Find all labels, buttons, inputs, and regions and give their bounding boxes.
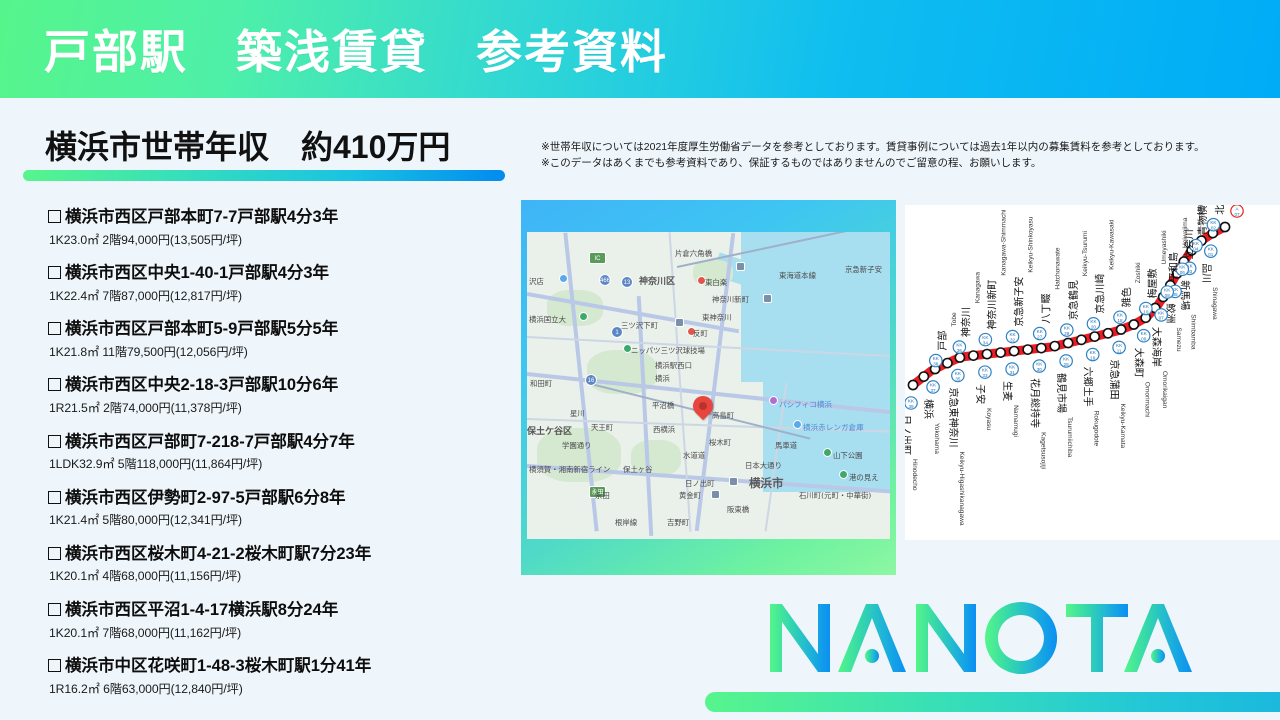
route-station-name-ja: 京急東神奈川 xyxy=(947,388,960,448)
route-station-code-prefix: KK xyxy=(1117,313,1124,318)
map-location-marker[interactable] xyxy=(693,396,713,424)
route-station-dot[interactable] xyxy=(1050,342,1059,351)
map-label: 日本大通り xyxy=(745,460,782,471)
route-station-code-number: 11 xyxy=(1117,348,1122,353)
route-station-code-number: 07 xyxy=(1159,316,1165,321)
route-station-code-number: 32 xyxy=(1010,337,1016,342)
route-map-svg: A07泉岳寺SengakujiKK01品川ShinagawaKK02北品川Kit… xyxy=(905,205,1280,540)
map-water-bay xyxy=(741,232,890,382)
route-station-name-ja: 新馬場 xyxy=(1179,280,1192,310)
map-label: 横浜駅西口 xyxy=(655,360,692,371)
map-label: 天王町 xyxy=(591,422,613,433)
listing-detail: 1K22.4㎡ 7階87,000円(12,817円/坪) xyxy=(49,286,508,304)
route-station-code-prefix: KK xyxy=(1210,220,1217,225)
route-station-name-ja: 八丁畷 xyxy=(1041,294,1053,324)
route-station-code-number: 37 xyxy=(931,388,937,393)
listing-address-text: 横浜市西区戸部町7-218-7戸部駅4分7年 xyxy=(65,433,355,451)
listing-address-text: 横浜市西区伊勢町2-97-5戸部駅6分8年 xyxy=(65,489,346,507)
listing-item[interactable]: 横浜市西区戸部町7-218-7戸部駅4分7年1LDK32.9㎡ 5階118,00… xyxy=(48,432,508,473)
disclaimer-note: ※世帯年収については2021年度厚生労働省データを参考としております。賃貸事例に… xyxy=(541,139,1251,172)
listing-address-text: 横浜市中区花咲町1-48-3桜木町駅1分41年 xyxy=(65,657,371,675)
map-label: 横浜市 xyxy=(749,475,784,491)
route-station-code-number: 30 xyxy=(1037,367,1043,372)
listing-checkbox-icon[interactable] xyxy=(48,266,61,279)
route-station-code-prefix: KK xyxy=(1208,247,1215,252)
map-label: 横浜赤レンガ倉庫 xyxy=(803,422,864,433)
listing-address: 横浜市西区中央1-40-1戸部駅4分3年 xyxy=(48,263,508,284)
map-label: 吉野町 xyxy=(667,517,689,528)
route-station-name-ja: 梅屋敷 xyxy=(1146,269,1159,299)
route-station-name-ja: 神奈川 xyxy=(959,307,972,337)
listing-item[interactable]: 横浜市西区戸部本町7-7戸部駅4分3年1K23.0㎡ 2階94,000円(13,… xyxy=(48,207,508,248)
route-station-dot[interactable] xyxy=(919,372,928,381)
route-station-code-prefix: KK xyxy=(908,398,915,403)
map-marker-hole xyxy=(699,402,707,410)
route-station-dot[interactable] xyxy=(996,348,1005,357)
listing-item[interactable]: 横浜市西区伊勢町2-97-5戸部駅6分8年1K21.4㎡ 5階80,000円(1… xyxy=(48,488,508,529)
route-station-code-number: 35 xyxy=(955,376,961,381)
map-label: 永田 xyxy=(595,490,610,501)
listing-address-text: 横浜市西区中央1-40-1戸部駅4分3年 xyxy=(65,264,329,282)
route-station-code-number: 19 xyxy=(1090,355,1096,360)
map-route-shield-466: 466 xyxy=(599,274,611,286)
route-station-name-en: Yokohama xyxy=(933,423,940,454)
route-station-code-prefix: KK xyxy=(933,356,940,361)
route-station-dot[interactable] xyxy=(982,350,991,359)
route-station-name-en: Keikyu-Shinkoyasu xyxy=(1028,216,1035,272)
route-station-name-en: Umeyashiki xyxy=(1161,230,1168,265)
route-station-name-en: Heiwajima xyxy=(1182,217,1189,248)
map-route-shield-16: 16 xyxy=(585,374,597,386)
route-station-name-en: Kanagawa xyxy=(974,272,981,303)
map-label: 三ツ沢下町 xyxy=(621,320,658,331)
route-station-code-number: 34 xyxy=(983,340,989,345)
listing-checkbox-icon[interactable] xyxy=(48,210,61,223)
route-station-name-en: Kagetsusojiji xyxy=(1039,432,1046,470)
listing-detail: 1K21.8㎡ 11階79,500円(12,056円/坪) xyxy=(49,342,508,360)
route-station-name-en: Zoshiki xyxy=(1135,262,1142,283)
route-station-dot[interactable] xyxy=(943,359,952,368)
map-label: 東白楽 xyxy=(705,277,727,288)
route-station-code-prefix: KK xyxy=(1009,364,1016,369)
route-station-code-prefix: KK xyxy=(1063,356,1070,361)
route-station-name-ja: 平和島 xyxy=(1167,252,1180,282)
map-station-sq-1 xyxy=(763,294,772,303)
map-poi-icon-green xyxy=(579,312,588,321)
map-label: 阪東橋 xyxy=(727,504,749,515)
page-header: 戸部駅 築浅賃貸 参考資料 xyxy=(0,0,1280,98)
listing-detail: 1K23.0㎡ 2階94,000円(13,505円/坪) xyxy=(49,230,508,248)
route-station-code-prefix: KK xyxy=(1090,350,1097,355)
map-warehouse-icon xyxy=(793,420,802,429)
route-station-name-en: Keikyu-Tsurumi xyxy=(1082,230,1089,276)
route-station-code-number: 33 xyxy=(982,373,988,378)
listing-item[interactable]: 横浜市西区中央2-18-3戸部駅10分6年1R21.5㎡ 2階74,000円(1… xyxy=(48,375,508,416)
listing-address: 横浜市西区桜木町4-21-2桜木町駅7分23年 xyxy=(48,544,508,565)
map-label: 横浜 xyxy=(655,373,670,384)
map-route-shield-13: 13 xyxy=(621,276,633,288)
map-label: パシフィコ横浜 xyxy=(779,399,832,410)
route-station-name-ja: 品川 xyxy=(1200,263,1212,283)
route-station-code-number: 38 xyxy=(933,361,939,366)
route-station-name-en: Keikyu-Higashikanagawa xyxy=(958,452,965,526)
listing-address: 横浜市西区平沼1-4-17横浜駅8分24年 xyxy=(48,600,508,621)
map-label: 京急新子安 xyxy=(845,264,882,275)
map-label: 黄金町 xyxy=(679,490,701,501)
map-station-sq-4 xyxy=(729,477,738,486)
map-label: 平沼橋 xyxy=(652,400,674,411)
route-station-name-en: Omorikaigan xyxy=(1161,371,1168,409)
map-label: 横浜国立大 xyxy=(529,314,566,325)
route-station-name-ja: 京急蒲田 xyxy=(1108,360,1121,400)
route-station-labels: A07泉岳寺SengakujiKK01品川ShinagawaKK02北品川Kit… xyxy=(905,205,1259,526)
listing-item[interactable]: 横浜市西区平沼1-4-17横浜駅8分24年1K20.1㎡ 7階68,000円(1… xyxy=(48,600,508,641)
disclaimer-line-2: ※このデータはあくまでも参考資料であり、保証するものではありませんのでご留意の程… xyxy=(541,155,1251,171)
listing-address-text: 横浜市西区戸部本町7-7戸部駅4分3年 xyxy=(65,208,338,226)
route-station-name-ja: 横浜 xyxy=(922,399,935,419)
route-station-code-prefix: KK xyxy=(1158,310,1165,315)
route-station-code-prefix: KK xyxy=(1164,287,1171,292)
disclaimer-line-1: ※世帯年収については2021年度厚生労働省データを参考としております。賃貸事例に… xyxy=(541,139,1251,155)
map-poi-icon-purple xyxy=(769,396,778,405)
brand-logo xyxy=(766,598,1196,676)
route-station-name-en: Shinagawa xyxy=(1211,287,1218,320)
listing-address: 横浜市中区花咲町1-48-3桜木町駅1分41年 xyxy=(48,656,508,677)
route-station-code-prefix: KK xyxy=(1141,331,1148,336)
route-station-name-en: Rokugodote xyxy=(1093,411,1100,447)
route-station-dot[interactable] xyxy=(1023,345,1032,354)
route-station-name-ja: 北品川 xyxy=(1214,205,1226,215)
map-label: 星川 xyxy=(570,408,585,419)
map-label: 根岸線 xyxy=(615,517,637,528)
listing-address: 横浜市西区戸部本町7-7戸部駅4分3年 xyxy=(48,207,508,228)
map-label: 山下公園 xyxy=(833,450,863,461)
listing-item[interactable]: 横浜市中区花咲町1-48-3桜木町駅1分41年1R16.2㎡ 6階63,000円… xyxy=(48,656,508,697)
route-station-dot[interactable] xyxy=(969,351,978,360)
route-station-dot[interactable] xyxy=(908,380,917,389)
logo-accent-bar xyxy=(705,692,1280,712)
route-station-code-prefix: KK xyxy=(1036,361,1043,366)
map-image[interactable]: 466 13 1 16 IC 永田 片倉六角橋神奈川区東白楽京急新子安神奈川新町… xyxy=(527,232,890,539)
route-station-code-number: 10 xyxy=(1143,309,1149,314)
route-station-name-ja: 生麦 xyxy=(1001,381,1014,401)
brand-logo-svg xyxy=(766,598,1196,676)
listing-checkbox-icon[interactable] xyxy=(48,659,61,672)
map-label: 東海道本線 xyxy=(779,270,816,281)
route-station-code-number: 01 xyxy=(1208,252,1214,257)
route-station-dot[interactable] xyxy=(1037,344,1046,353)
route-station-code-number: 28 xyxy=(1064,362,1070,367)
route-station-dot[interactable] xyxy=(1103,329,1112,338)
listing-address-text: 横浜市西区中央2-18-3戸部駅10分6年 xyxy=(65,376,338,394)
route-map-panel: A07泉岳寺SengakujiKK01品川ShinagawaKK02北品川Kit… xyxy=(905,205,1280,540)
listing-checkbox-icon[interactable] xyxy=(48,435,61,448)
listing-item[interactable]: 横浜市西区中央1-40-1戸部駅4分3年1K22.4㎡ 7階87,000円(12… xyxy=(48,263,508,304)
route-station-name-en: Namamugi xyxy=(1012,405,1019,437)
listing-address-text: 横浜市西区戸部本町5-9戸部駅5分5年 xyxy=(65,320,338,338)
route-station-name-en: Hatchonawate xyxy=(1055,247,1062,289)
listing-checkbox-icon[interactable] xyxy=(48,603,61,616)
route-station-code-number: 06 xyxy=(1180,270,1186,275)
map-label: 港の見え xyxy=(849,472,879,483)
map-panel: 466 13 1 16 IC 永田 片倉六角橋神奈川区東白楽京急新子安神奈川新町… xyxy=(521,200,896,575)
route-station-name-en: Omorimachi xyxy=(1144,382,1151,418)
map-label: 水道道 xyxy=(683,450,705,461)
map-label: 反町 xyxy=(693,328,708,339)
route-station-name-en: Samezu xyxy=(1175,327,1182,352)
route-station-name-ja: 雑色 xyxy=(1120,287,1133,307)
map-road-6 xyxy=(637,296,654,536)
listing-checkbox-icon[interactable] xyxy=(48,322,61,335)
route-station-code-number: 09 xyxy=(1141,337,1147,342)
route-station-code-prefix: KK xyxy=(956,342,963,347)
route-station-name-ja: 神奈川新町 xyxy=(985,280,998,330)
route-station-name-en: Koyasu xyxy=(985,408,992,430)
route-station-name-ja: 大森町 xyxy=(1133,348,1146,378)
route-station-code-prefix: KK xyxy=(1037,329,1044,334)
listing-detail: 1K21.4㎡ 5階80,000円(12,341円/坪) xyxy=(49,510,508,528)
route-station-name-en: Tobe xyxy=(951,312,958,327)
route-station-code-number: 18 xyxy=(1117,318,1123,323)
route-station-dot[interactable] xyxy=(1010,347,1019,356)
listing-checkbox-icon[interactable] xyxy=(48,378,61,391)
listing-item[interactable]: 横浜市西区桜木町4-21-2桜木町駅7分23年1K20.1㎡ 4階68,000円… xyxy=(48,544,508,585)
route-station-code-prefix: KK xyxy=(1090,319,1097,324)
page-title: 戸部駅 築浅賃貸 参考資料 xyxy=(44,16,668,82)
listing-checkbox-icon[interactable] xyxy=(48,547,61,560)
listing-item[interactable]: 横浜市西区戸部本町5-9戸部駅5分5年1K21.8㎡ 11階79,500円(12… xyxy=(48,319,508,360)
listing-detail: 1R21.5㎡ 2階74,000円(11,378円/坪) xyxy=(49,398,508,416)
listing-detail: 1K20.1㎡ 7階68,000円(11,162円/坪) xyxy=(49,623,508,641)
route-station-code-number: 08 xyxy=(1165,293,1171,298)
listing-detail: 1K20.1㎡ 4階68,000円(11,156円/坪) xyxy=(49,566,508,584)
route-station-dot[interactable] xyxy=(1117,325,1126,334)
listing-address-text: 横浜市西区桜木町4-21-2桜木町駅7分23年 xyxy=(65,545,371,563)
map-label: 和田町 xyxy=(530,378,552,389)
route-station-code-number: 27 xyxy=(1037,334,1043,339)
route-station-code-prefix: KK xyxy=(1143,304,1150,309)
route-station-dot[interactable] xyxy=(1129,320,1138,329)
map-label: 東神奈川 xyxy=(702,312,732,323)
route-station-name-ja: 六郷土手 xyxy=(1082,367,1095,407)
listing-address: 横浜市西区伊勢町2-97-5戸部駅6分8年 xyxy=(48,488,508,509)
listing-address-text: 横浜市西区平沼1-4-17横浜駅8分24年 xyxy=(65,601,338,619)
map-label: 馬車道 xyxy=(775,440,797,451)
route-station-code-prefix: KK xyxy=(955,371,962,376)
route-station-name-en: Hinodecho xyxy=(911,459,918,491)
map-station-sq-5 xyxy=(711,490,720,499)
route-station-name-ja: 京急鶴見 xyxy=(1067,280,1080,320)
route-station-name-ja: 京急川崎 xyxy=(1093,274,1106,314)
route-station-code-number: 20 xyxy=(1091,325,1097,330)
route-station-code-number: 36 xyxy=(957,348,963,353)
route-station-dot[interactable] xyxy=(955,353,964,362)
route-station-name-ja: 京急新子安 xyxy=(1013,277,1026,327)
route-station-name-en: Kanagawa-Shimmachi xyxy=(1000,209,1007,276)
map-label: 石川町(元町・中華街) xyxy=(799,490,871,501)
listing-detail: 1LDK32.9㎡ 5階118,000円(11,864円/坪) xyxy=(49,454,508,472)
map-label: 学園通り xyxy=(562,440,592,451)
listing-address: 横浜市西区中央2-18-3戸部駅10分6年 xyxy=(48,375,508,396)
map-minatomieru-icon xyxy=(839,470,848,479)
listing-checkbox-icon[interactable] xyxy=(48,491,61,504)
route-station-code-number: 39 xyxy=(908,404,914,409)
map-label: 保土ヶ谷 xyxy=(623,464,653,475)
map-label: 神奈川区 xyxy=(639,274,675,287)
map-ic-shield: IC xyxy=(589,252,606,264)
route-station-name-en: Keikyu-Kawasaki xyxy=(1108,219,1115,270)
route-station-name-ja: 子安 xyxy=(974,384,987,404)
route-station-code-number: 07 xyxy=(1234,212,1240,217)
route-station-code-prefix: KK xyxy=(982,368,989,373)
map-label: ニッパツ三ツ沢球技場 xyxy=(631,345,705,356)
map-label: 横須賀・湘南新宿ライン xyxy=(529,464,610,475)
route-station-name-en: Tachiaigawa xyxy=(1197,205,1204,225)
route-station-code-number: 31 xyxy=(1010,370,1016,375)
route-station-dot[interactable] xyxy=(1220,222,1229,231)
map-label: 桜木町 xyxy=(709,437,731,448)
map-label: 神奈川新町 xyxy=(712,294,749,305)
route-station-code-number: 29 xyxy=(1064,331,1070,336)
route-station-code-prefix: KK xyxy=(1064,325,1071,330)
map-label: 片倉六角橋 xyxy=(675,248,712,259)
map-label: 保土ケ谷区 xyxy=(527,424,572,437)
listing-address: 横浜市西区戸部本町5-9戸部駅5分5年 xyxy=(48,319,508,340)
route-station-name-en: Keikyu-Kamata xyxy=(1119,404,1126,449)
route-station-code-prefix: KK xyxy=(1179,265,1186,270)
listing-address: 横浜市西区戸部町7-218-7戸部駅4分7年 xyxy=(48,432,508,453)
map-station-sq-3 xyxy=(675,318,684,327)
route-station-name-en: Tsurumiichiba xyxy=(1066,417,1073,458)
route-station-name-ja: 日ノ出町 xyxy=(905,415,913,455)
map-yamashita-park-icon xyxy=(823,448,832,457)
route-station-code-number: 02 xyxy=(1211,226,1217,231)
listing-detail: 1R16.2㎡ 6階63,000円(12,840円/坪) xyxy=(49,679,508,697)
route-station-code-prefix: KK xyxy=(1009,332,1016,337)
route-station-name-ja: 戸部 xyxy=(936,331,949,351)
route-station-name-ja: 花月総持寺 xyxy=(1028,378,1041,428)
map-label: 高島町 xyxy=(712,410,734,421)
map-label: 沢店 xyxy=(529,276,544,287)
section-title-underline xyxy=(23,170,505,181)
route-station-code-prefix: KK xyxy=(982,335,989,340)
map-label: 西横浜 xyxy=(653,424,675,435)
route-station-name-ja: 鶴見市場 xyxy=(1055,373,1068,413)
route-station-code-prefix: KK xyxy=(930,382,937,387)
map-label: 日ノ出町 xyxy=(685,478,715,489)
route-station-dot[interactable] xyxy=(1090,332,1099,341)
route-station-name-ja: 大森海岸 xyxy=(1150,327,1163,367)
listing-list: 横浜市西区戸部本町7-7戸部駅4分3年1K23.0㎡ 2階94,000円(13,… xyxy=(48,207,508,712)
section-title: 横浜市世帯年収 約410万円 xyxy=(45,122,450,168)
map-station-sq-2 xyxy=(736,262,745,271)
route-station-code-prefix: KK xyxy=(1116,343,1123,348)
route-station-dot[interactable] xyxy=(1064,338,1073,347)
map-poi-icon xyxy=(559,274,568,283)
route-station-name-en: Shimbamba xyxy=(1190,314,1197,350)
route-station-dot[interactable] xyxy=(1077,335,1086,344)
